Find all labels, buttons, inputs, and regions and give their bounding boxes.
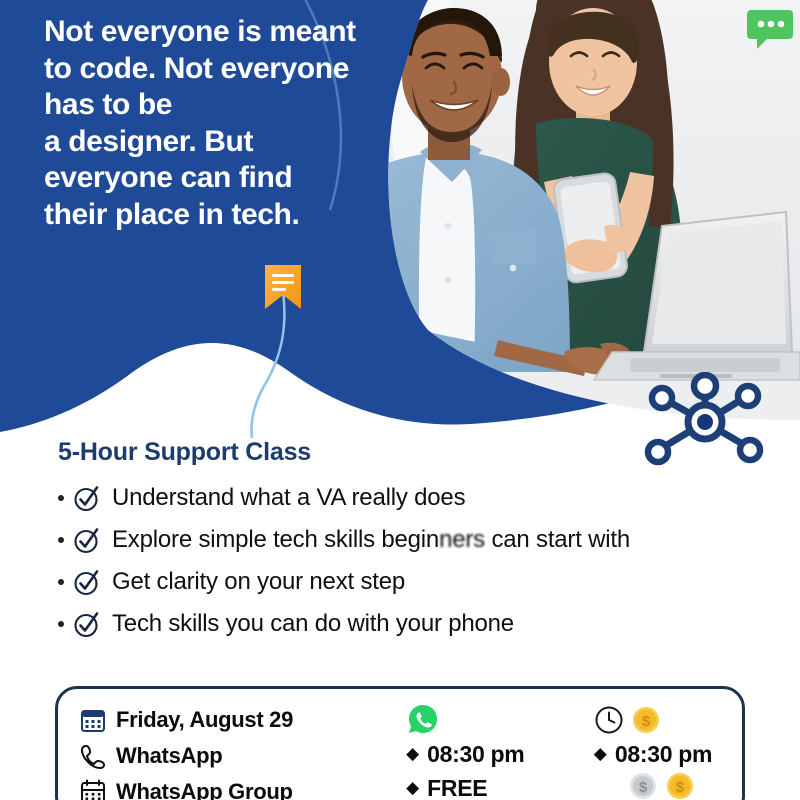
headline-line-2: to code. Not everyone xyxy=(44,51,404,88)
bullet-dot-icon xyxy=(58,621,64,627)
diamond-bullet-icon: ◆ xyxy=(406,744,419,764)
whatsapp-icon xyxy=(406,703,440,737)
headline-line-3: has to be xyxy=(44,87,404,124)
bullet-dot-icon xyxy=(58,495,64,501)
clock-icon xyxy=(594,705,624,735)
bullet-dot-icon xyxy=(58,537,64,543)
diamond-bullet-icon: ◆ xyxy=(406,778,419,798)
clock-coin-icon-row: $ xyxy=(594,703,742,737)
list-item-label: Tech skills you can do with your phone xyxy=(112,610,514,638)
list-item: Understand what a VA really does xyxy=(58,481,800,515)
detail-row-group: WhatsApp Group xyxy=(80,775,406,800)
coin-pair-row: $ $ xyxy=(594,771,742,800)
list-item: Tech skills you can do with your phone xyxy=(58,607,800,641)
detail-date-label: Friday, August 29 xyxy=(116,707,293,733)
benefits-list: Understand what a VA really does Explore… xyxy=(0,481,800,641)
coin-silver-icon: $ xyxy=(628,771,658,800)
list-item-label: Understand what a VA really does xyxy=(112,484,465,512)
list-item: Explore simple tech skills beginners can… xyxy=(58,523,800,557)
bullet-dot-icon xyxy=(58,579,64,585)
list-item-label: Explore simple tech skills beginners can… xyxy=(112,526,630,554)
detail-row-time-right: ◆ 08:30 pm xyxy=(594,737,742,771)
svg-text:$: $ xyxy=(676,779,685,796)
list-item: Get clarity on your next step xyxy=(58,565,800,599)
circle-check-icon xyxy=(73,611,100,638)
list-item-label: Get clarity on your next step xyxy=(112,568,405,596)
svg-text:$: $ xyxy=(639,779,648,796)
diamond-bullet-icon: ◆ xyxy=(594,744,607,764)
poster-canvas: Not everyone is meant to code. Not every… xyxy=(0,0,800,800)
detail-time-label: 08:30 pm xyxy=(427,741,524,768)
circle-check-icon xyxy=(73,485,100,512)
detail-row-platform: WhatsApp xyxy=(80,739,406,772)
headline-line-4: a designer. But xyxy=(44,124,404,161)
detail-platform-label: WhatsApp xyxy=(116,743,222,769)
circle-check-icon xyxy=(73,569,100,596)
detail-row-price-mid: ◆ FREE xyxy=(406,771,594,800)
details-left-column: Friday, August 29 WhatsApp xyxy=(80,703,406,800)
headline-line-1: Not everyone is meant xyxy=(44,14,404,51)
phone-handset-icon xyxy=(80,743,106,769)
circle-check-icon xyxy=(73,527,100,554)
detail-row-time-mid: ◆ 08:30 pm xyxy=(406,737,594,771)
bookmark-icon xyxy=(262,262,304,316)
headline-line-5: everyone can find xyxy=(44,160,404,197)
detail-row-date: Friday, August 29 xyxy=(80,703,406,736)
detail-group-label: WhatsApp Group xyxy=(116,779,293,800)
coin-icon: $ xyxy=(631,705,661,735)
svg-text:$: $ xyxy=(642,713,651,730)
coin-gold-icon: $ xyxy=(665,771,695,800)
headline-line-6: their place in tech. xyxy=(44,197,404,234)
details-middle-column: ◆ 08:30 pm ◆ FREE xyxy=(406,703,594,800)
chat-bubble-icon xyxy=(746,6,794,50)
whatsapp-icon-row xyxy=(406,703,594,737)
calendar-icon xyxy=(80,779,106,800)
class-details-section: 5-Hour Support Class Understand what a V… xyxy=(0,430,800,649)
detail-time-right-label: 08:30 pm xyxy=(615,741,712,768)
headline: Not everyone is meant to code. Not every… xyxy=(44,14,404,234)
page-title: 5-Hour Support Class xyxy=(0,430,800,467)
detail-price-label: FREE xyxy=(427,775,487,800)
details-card: Friday, August 29 WhatsApp xyxy=(55,686,745,800)
calendar-icon xyxy=(80,707,106,733)
details-right-column: $ ◆ 08:30 pm $ xyxy=(594,703,742,800)
